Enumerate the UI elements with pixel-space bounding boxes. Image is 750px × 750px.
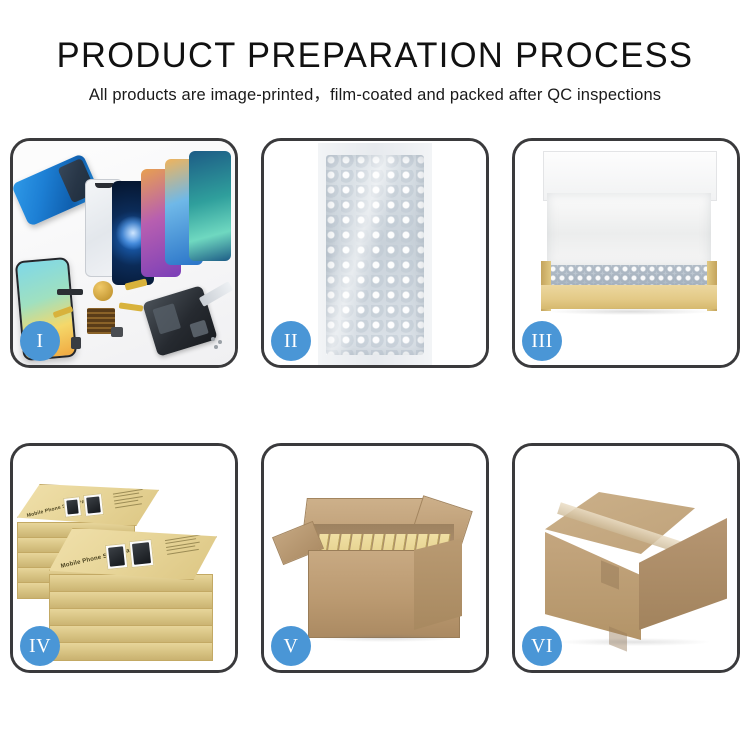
box-spec-lines (113, 489, 147, 511)
page-title: PRODUCT PREPARATION PROCESS (6, 0, 745, 76)
box-top-back: Mobile Phone Spare Parts (17, 484, 159, 526)
header: PRODUCT PREPARATION PROCESS All products… (0, 0, 750, 130)
page-subtitle: All products are image-printed，film-coat… (0, 76, 750, 105)
step-badge-2: II (271, 321, 311, 361)
box-window (105, 543, 128, 570)
step-badge-1: I (20, 321, 60, 361)
process-step-grid: I II III (10, 138, 740, 673)
carton-shadow (559, 638, 709, 646)
camera-module-part (111, 327, 123, 337)
process-step-panel-4: Mobile Phone Spare Parts Mobile Phone Sp… (10, 443, 238, 673)
bubble-wrapped-units (549, 265, 711, 287)
screws-group (211, 337, 227, 349)
box-top-front: Mobile Phone Spare Parts (49, 528, 217, 580)
step-badge-6: VI (522, 626, 562, 666)
earpiece-mesh-part (57, 289, 83, 295)
box-spec-lines (165, 534, 205, 557)
carton-side-face (414, 538, 462, 630)
box-label-text: Mobile Phone Spare Parts (26, 497, 92, 519)
box-window (63, 496, 82, 518)
phone-lcd-teal (189, 151, 231, 261)
carton-shadow (316, 634, 456, 642)
process-step-panel-2: II (261, 138, 489, 368)
inner-box-front-panel (541, 285, 717, 309)
process-step-panel-5: V (261, 443, 489, 673)
white-foam-padding (547, 193, 711, 267)
speaker-coil-part (93, 281, 113, 301)
bubble-wrap-highlight (326, 155, 424, 355)
small-component-part (71, 337, 81, 349)
box-window (129, 539, 155, 568)
process-step-panel-1: I (10, 138, 238, 368)
tweezers-tool-icon (199, 281, 233, 307)
inner-box-shadow (549, 308, 711, 315)
box-side (49, 642, 213, 661)
process-step-panel-6: VI (512, 443, 740, 673)
step-badge-4: IV (20, 626, 60, 666)
flex-cable-part-2 (119, 302, 144, 311)
process-step-panel-3: III (512, 138, 740, 368)
step-badge-5: V (271, 626, 311, 666)
step-badge-3: III (522, 321, 562, 361)
box-window (83, 493, 104, 517)
